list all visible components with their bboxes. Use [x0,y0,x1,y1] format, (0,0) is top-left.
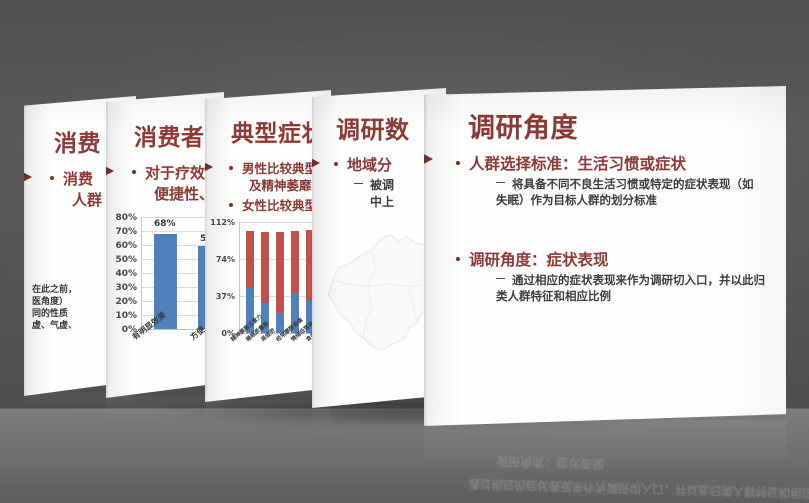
y-axis-line [239,222,240,333]
sub-bullet-dash-icon [496,278,505,279]
slide-title-4: 调研数 [336,110,410,145]
ytick-37: 37% [209,292,235,301]
slide-left-edge [106,92,109,398]
ytick-112: 112% [209,218,235,227]
y-axis-line [141,217,142,329]
sub-bullet-dash-icon [496,182,505,183]
ytick-80: 80% [110,213,137,223]
slide-title-5: 调研角度 [468,106,578,145]
slide-bullet-1-1: 消费 [50,168,93,189]
slide-sorter-stage: 消费 消费 人群 在此之前， 医角度） 同的性质 虚、气虚、 消费者 对于疗效 … [0,0,809,503]
bar-value-label-0: 68% [154,219,176,229]
slide-bullet-2-1: 对于疗效 [132,162,205,183]
slide-left-edge [424,86,428,426]
slide-subbullet-5-2: 通过相应的症状表现来作为调研切入口，并以此归类人群特征和相应比例 [496,272,768,305]
bullet-dot-icon [132,170,136,174]
sub-bullet-dash-icon [354,183,363,184]
slide-title-3: 典型症状 [231,114,325,148]
ytick-60: 60% [110,241,137,251]
stack-bar-3-upper [291,231,299,293]
slide-bullet-5-2: 调研角度：症状表现 [456,248,609,270]
bullet-dot-icon [50,176,54,180]
slide-marker-arrow-2 [106,164,114,178]
stack-bar-0-upper [246,231,254,288]
slide-marker-arrow-3 [205,160,213,174]
bullet-dot-icon [456,257,460,261]
ytick-70: 70% [110,227,137,237]
stack-bar-2-upper [276,232,284,313]
stack-bar-1-upper [261,232,269,303]
slide-bullet-4-1: 地域分 [334,154,392,175]
slide-title-1: 消费 [54,124,101,158]
slide-left-edge [24,96,27,396]
slide-bullet-1-2: 人群 [72,189,102,210]
ytick-20: 20% [110,297,137,307]
slide-subbullet-5-1: 将具备不同不良生活习惯或特定的症状表现（如失眠）作为目标人群的划分标准 [496,176,764,209]
reflected-text-bullet: 调研角度：症状表现 [496,453,604,473]
slide-thumbnail-5-active[interactable]: 调研角度 人群选择标准：生活习惯或症状 将具备不同不良生活习惯或特定的症状表现（… [424,86,786,426]
slide-title-2: 消费者 [134,118,205,152]
ytick-50: 50% [110,255,137,265]
slide-left-edge [205,90,208,402]
slide-body-text-1: 在此之前， 医角度） 同的性质 虚、气虚、 [32,284,77,333]
slide-bullet-5-1: 人群选择标准：生活习惯或症状 [456,152,686,174]
ytick-74: 74% [209,255,235,264]
slide-marker-arrow-5 [424,151,433,167]
reflected-text-subbullet: 通过相应的症状表现来作为调研切入口，并以此归类人群特征和相应比例 [468,476,809,502]
bullet-dot-icon [456,161,460,165]
slide-bullet-4-2: 被调 [354,177,394,194]
slide-left-edge [312,88,315,408]
slide-marker-arrow-4 [312,156,320,170]
slide-marker-arrow-1 [24,170,32,184]
ytick-30: 30% [110,283,137,293]
bullet-dot-icon [229,166,233,170]
slide-bullet-3-3: 女性比较典型 [229,195,317,214]
ytick-10: 10% [110,311,137,321]
bullet-dot-icon [334,162,338,166]
slide-bullet-4-3: 中上 [370,194,394,211]
bullet-dot-icon [229,203,233,207]
ytick-40: 40% [110,269,137,279]
china-map-icon [318,224,442,359]
